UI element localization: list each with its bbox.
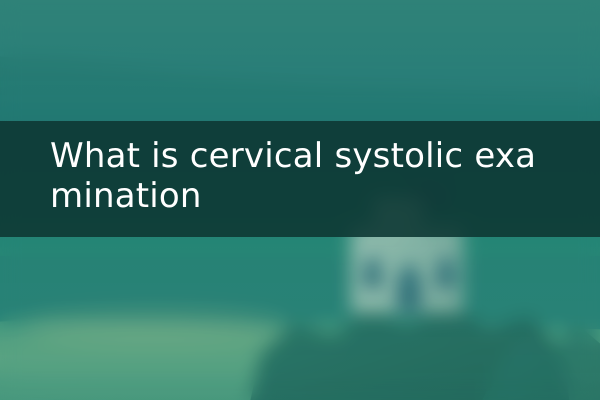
cover-banner-image: What is cervical systolic examination <box>0 0 600 400</box>
page-title: What is cervical systolic examination <box>50 136 552 216</box>
title-band: What is cervical systolic examination <box>0 121 600 237</box>
